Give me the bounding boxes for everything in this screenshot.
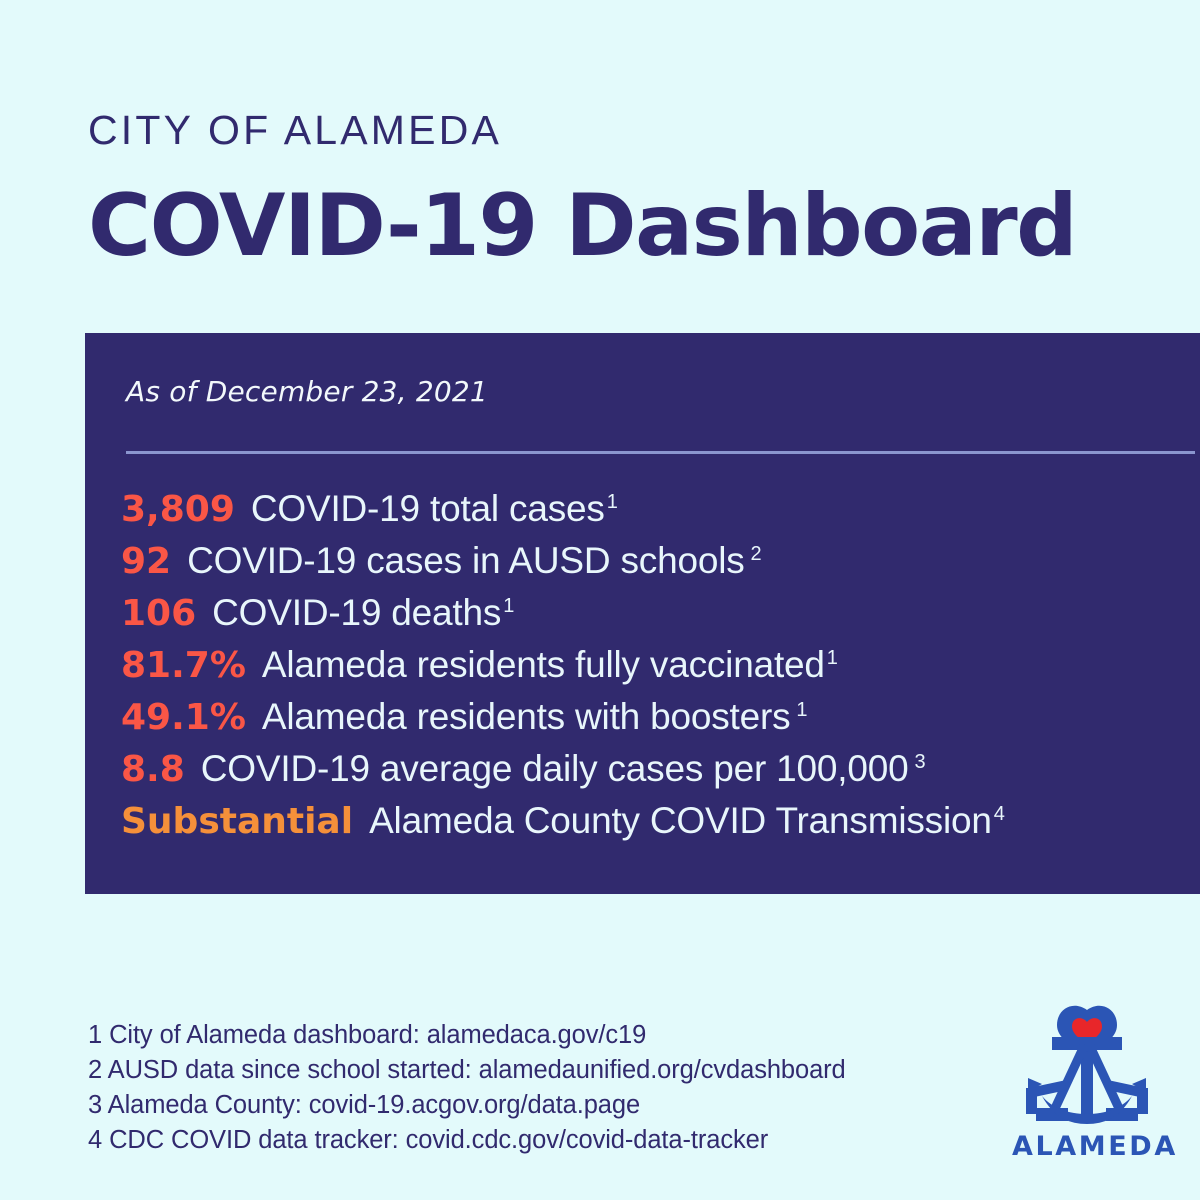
stat-row: 81.7%Alameda residents fully vaccinated1	[121, 644, 1190, 696]
stat-row: SubstantialAlameda County COVID Transmis…	[121, 800, 1190, 852]
page-title: COVID-19 Dashboard	[88, 181, 1148, 271]
stat-row: 49.1%Alameda residents with boosters1	[121, 696, 1190, 748]
as-of-date: As of December 23, 2021	[126, 375, 488, 408]
stat-value: 49.1%	[121, 697, 246, 738]
stat-footnote-marker: 1	[607, 491, 618, 513]
stat-label: COVID-19 average daily cases per 100,000…	[201, 748, 926, 790]
alameda-anchor-heart-icon	[1012, 1004, 1162, 1129]
stat-value: 106	[121, 593, 196, 634]
stat-label: COVID-19 deaths1	[212, 592, 514, 634]
stat-footnote-marker: 2	[751, 543, 762, 565]
alameda-logo: ALAMEDA	[1012, 1004, 1162, 1174]
stats-panel: As of December 23, 2021 3,809COVID-19 to…	[85, 333, 1200, 894]
stat-value: 92	[121, 541, 171, 582]
stat-row: 8.8COVID-19 average daily cases per 100,…	[121, 748, 1190, 800]
stat-value: 81.7%	[121, 645, 246, 686]
eyebrow-city-label: CITY OF ALAMEDA	[88, 108, 1148, 153]
page-header: CITY OF ALAMEDA COVID-19 Dashboard	[88, 108, 1148, 271]
stat-value: 8.8	[121, 749, 185, 790]
stat-value: Substantial	[121, 801, 353, 842]
footnote-item: 1 City of Alameda dashboard: alamedaca.g…	[88, 1018, 968, 1053]
stat-label: Alameda residents fully vaccinated1	[262, 644, 838, 686]
stat-label: Alameda residents with boosters1	[262, 696, 807, 738]
stat-label: COVID-19 cases in AUSD schools2	[187, 540, 761, 582]
stats-list: 3,809COVID-19 total cases192COVID-19 cas…	[121, 488, 1190, 852]
logo-wordmark: ALAMEDA	[1012, 1131, 1162, 1162]
stat-row: 92COVID-19 cases in AUSD schools2	[121, 540, 1190, 592]
stat-row: 106COVID-19 deaths1	[121, 592, 1190, 644]
footnotes-list: 1 City of Alameda dashboard: alamedaca.g…	[88, 1018, 968, 1158]
footnote-item: 2 AUSD data since school started: alamed…	[88, 1053, 968, 1088]
stat-footnote-marker: 3	[915, 751, 926, 773]
stat-label: COVID-19 total cases1	[251, 488, 618, 530]
stat-footnote-marker: 1	[796, 699, 807, 721]
footnote-item: 4 CDC COVID data tracker: covid.cdc.gov/…	[88, 1123, 968, 1158]
stat-value: 3,809	[121, 489, 235, 530]
stat-footnote-marker: 4	[994, 803, 1005, 825]
stat-footnote-marker: 1	[503, 595, 514, 617]
stat-footnote-marker: 1	[827, 647, 838, 669]
stat-label: Alameda County COVID Transmission4	[369, 800, 1005, 842]
stat-row: 3,809COVID-19 total cases1	[121, 488, 1190, 540]
panel-divider	[126, 451, 1195, 454]
footnote-item: 3 Alameda County: covid-19.acgov.org/dat…	[88, 1088, 968, 1123]
